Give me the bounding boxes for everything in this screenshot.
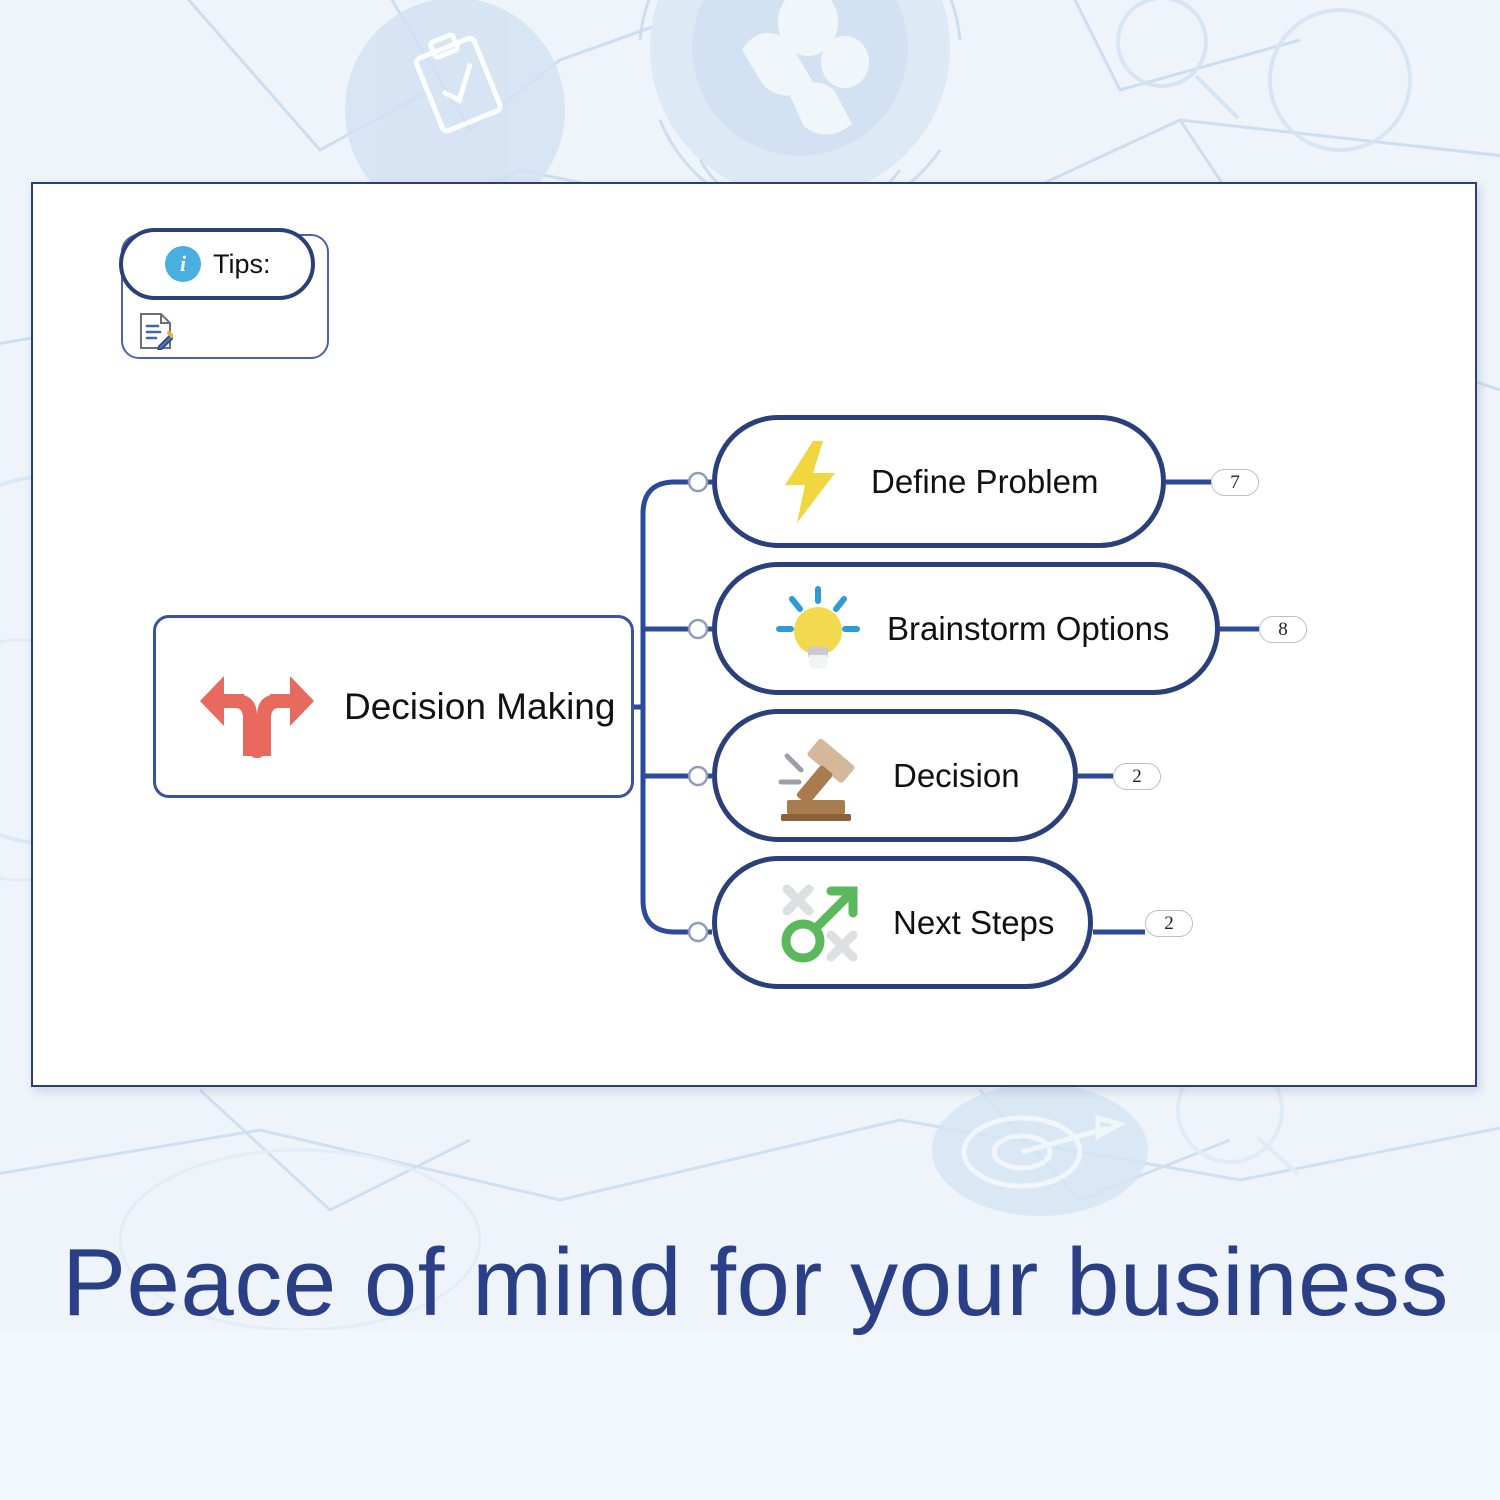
branch-label: Define Problem <box>871 463 1098 501</box>
badge-count-next-steps[interactable]: 2 <box>1145 910 1193 937</box>
note-edit-icon[interactable] <box>139 312 173 350</box>
branch-node-decision[interactable]: Decision <box>712 709 1078 842</box>
branch-node-next-steps[interactable]: Next Steps <box>712 856 1093 989</box>
mindmap-canvas[interactable]: i Tips: Decision Making <box>31 182 1477 1087</box>
lightbulb-icon <box>775 585 861 673</box>
badge-count-brainstorm-options[interactable]: 8 <box>1259 616 1307 643</box>
branch-node-define-problem[interactable]: Define Problem <box>712 415 1166 548</box>
branch-label: Brainstorm Options <box>887 610 1169 648</box>
badge-count-decision[interactable]: 2 <box>1113 763 1161 790</box>
branch-label: Decision <box>893 757 1020 795</box>
strategy-arrow-icon <box>775 877 867 969</box>
tips-label: Tips: <box>213 249 271 280</box>
central-node-decision-making[interactable]: Decision Making <box>153 615 634 798</box>
badge-count-define-problem[interactable]: 7 <box>1211 469 1259 496</box>
branch-node-brainstorm-options[interactable]: Brainstorm Options <box>712 562 1220 695</box>
gavel-icon <box>775 730 867 822</box>
lightning-bolt-icon <box>775 439 845 525</box>
tips-group[interactable]: i Tips: <box>121 234 329 359</box>
info-circle-icon: i <box>165 246 201 282</box>
tagline: Peace of mind for your business <box>62 1228 1462 1338</box>
branch-label: Next Steps <box>893 904 1054 942</box>
tips-node[interactable]: i Tips: <box>119 228 315 300</box>
fork-arrows-icon <box>198 652 316 762</box>
central-node-label: Decision Making <box>344 686 615 728</box>
